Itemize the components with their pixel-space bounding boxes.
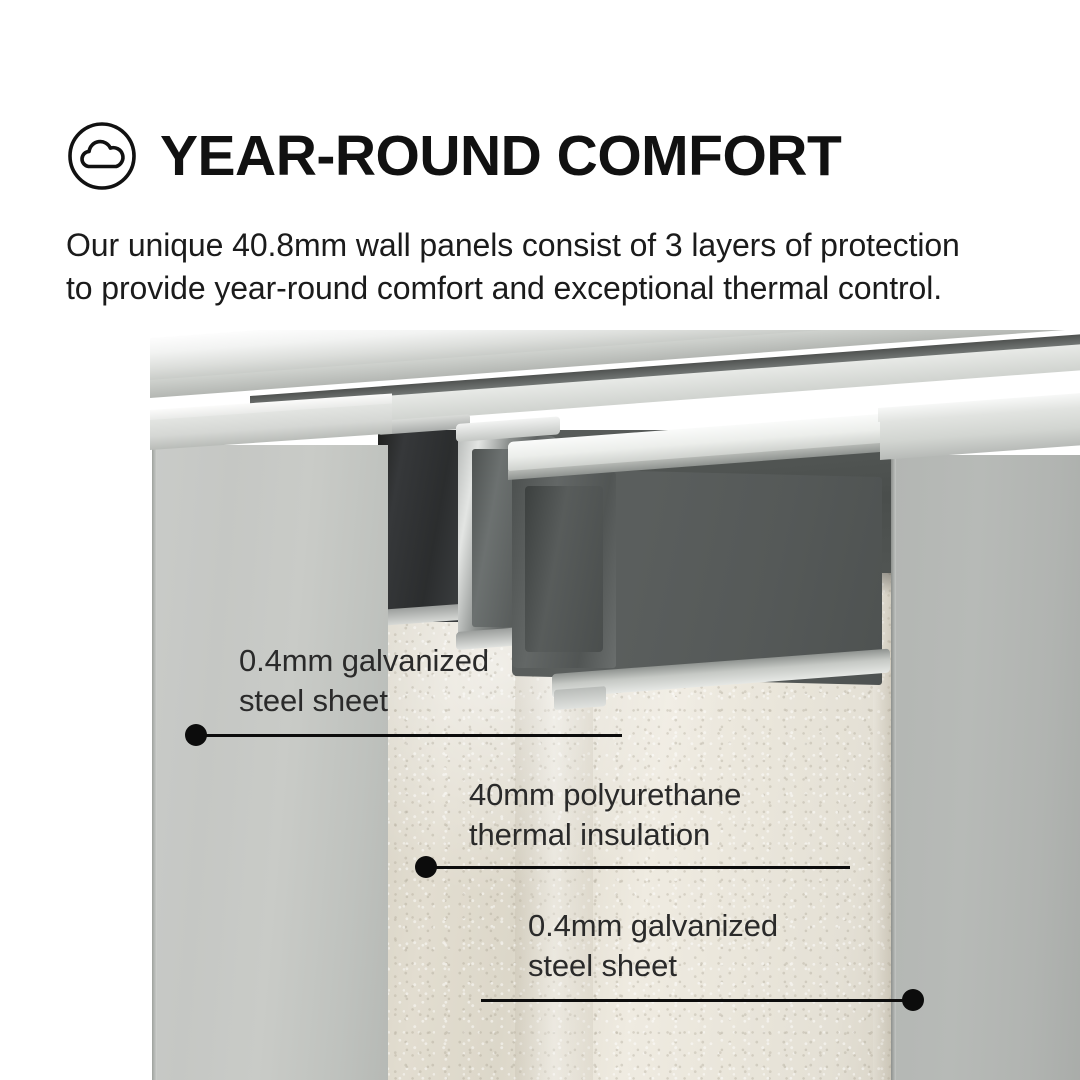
callout-inner-steel-sheet: 0.4mm galvanized steel sheet — [528, 906, 778, 986]
callout-polyurethane-core: 40mm polyurethane thermal insulation — [469, 775, 741, 855]
panel-cutaway-infographic: YEAR-ROUND COMFORT Our unique 40.8mm wal… — [0, 0, 1080, 1080]
callout-inner-steel-sheet-leader-dot — [902, 989, 924, 1011]
header-block: YEAR-ROUND COMFORT Our unique 40.8mm wal… — [0, 0, 1080, 330]
callout-polyurethane-core-label: 40mm polyurethane thermal insulation — [469, 775, 741, 855]
inner-sheet-left-edge — [891, 450, 896, 1080]
c-channel-front-bottom-tab — [554, 686, 606, 710]
c-channel-front-cavity — [525, 486, 603, 652]
callout-polyurethane-core-leader-dot — [415, 856, 437, 878]
c-channel-rear-body — [378, 430, 470, 622]
callout-outer-steel-sheet: 0.4mm galvanized steel sheet — [239, 641, 489, 721]
outer-sheet-left-edge — [152, 445, 157, 1080]
callout-inner-steel-sheet-label: 0.4mm galvanized steel sheet — [528, 906, 778, 986]
title-row: YEAR-ROUND COMFORT — [66, 88, 841, 224]
header-subtitle: Our unique 40.8mm wall panels consist of… — [66, 224, 966, 310]
page-title: YEAR-ROUND COMFORT — [160, 126, 841, 186]
inner-galvanized-steel-sheet — [893, 455, 1080, 1080]
callout-inner-steel-sheet-leader-line — [481, 999, 913, 1002]
cloud-in-circle-icon — [66, 120, 138, 192]
steel-c-channel-rear — [378, 430, 470, 622]
steel-c-channel-front — [512, 468, 882, 676]
callout-outer-steel-sheet-label: 0.4mm galvanized steel sheet — [239, 641, 489, 721]
callout-outer-steel-sheet-leader-line — [206, 734, 622, 737]
callout-polyurethane-core-leader-line — [436, 866, 850, 869]
callout-outer-steel-sheet-leader-dot — [185, 724, 207, 746]
outer-galvanized-steel-sheet — [152, 445, 388, 1080]
